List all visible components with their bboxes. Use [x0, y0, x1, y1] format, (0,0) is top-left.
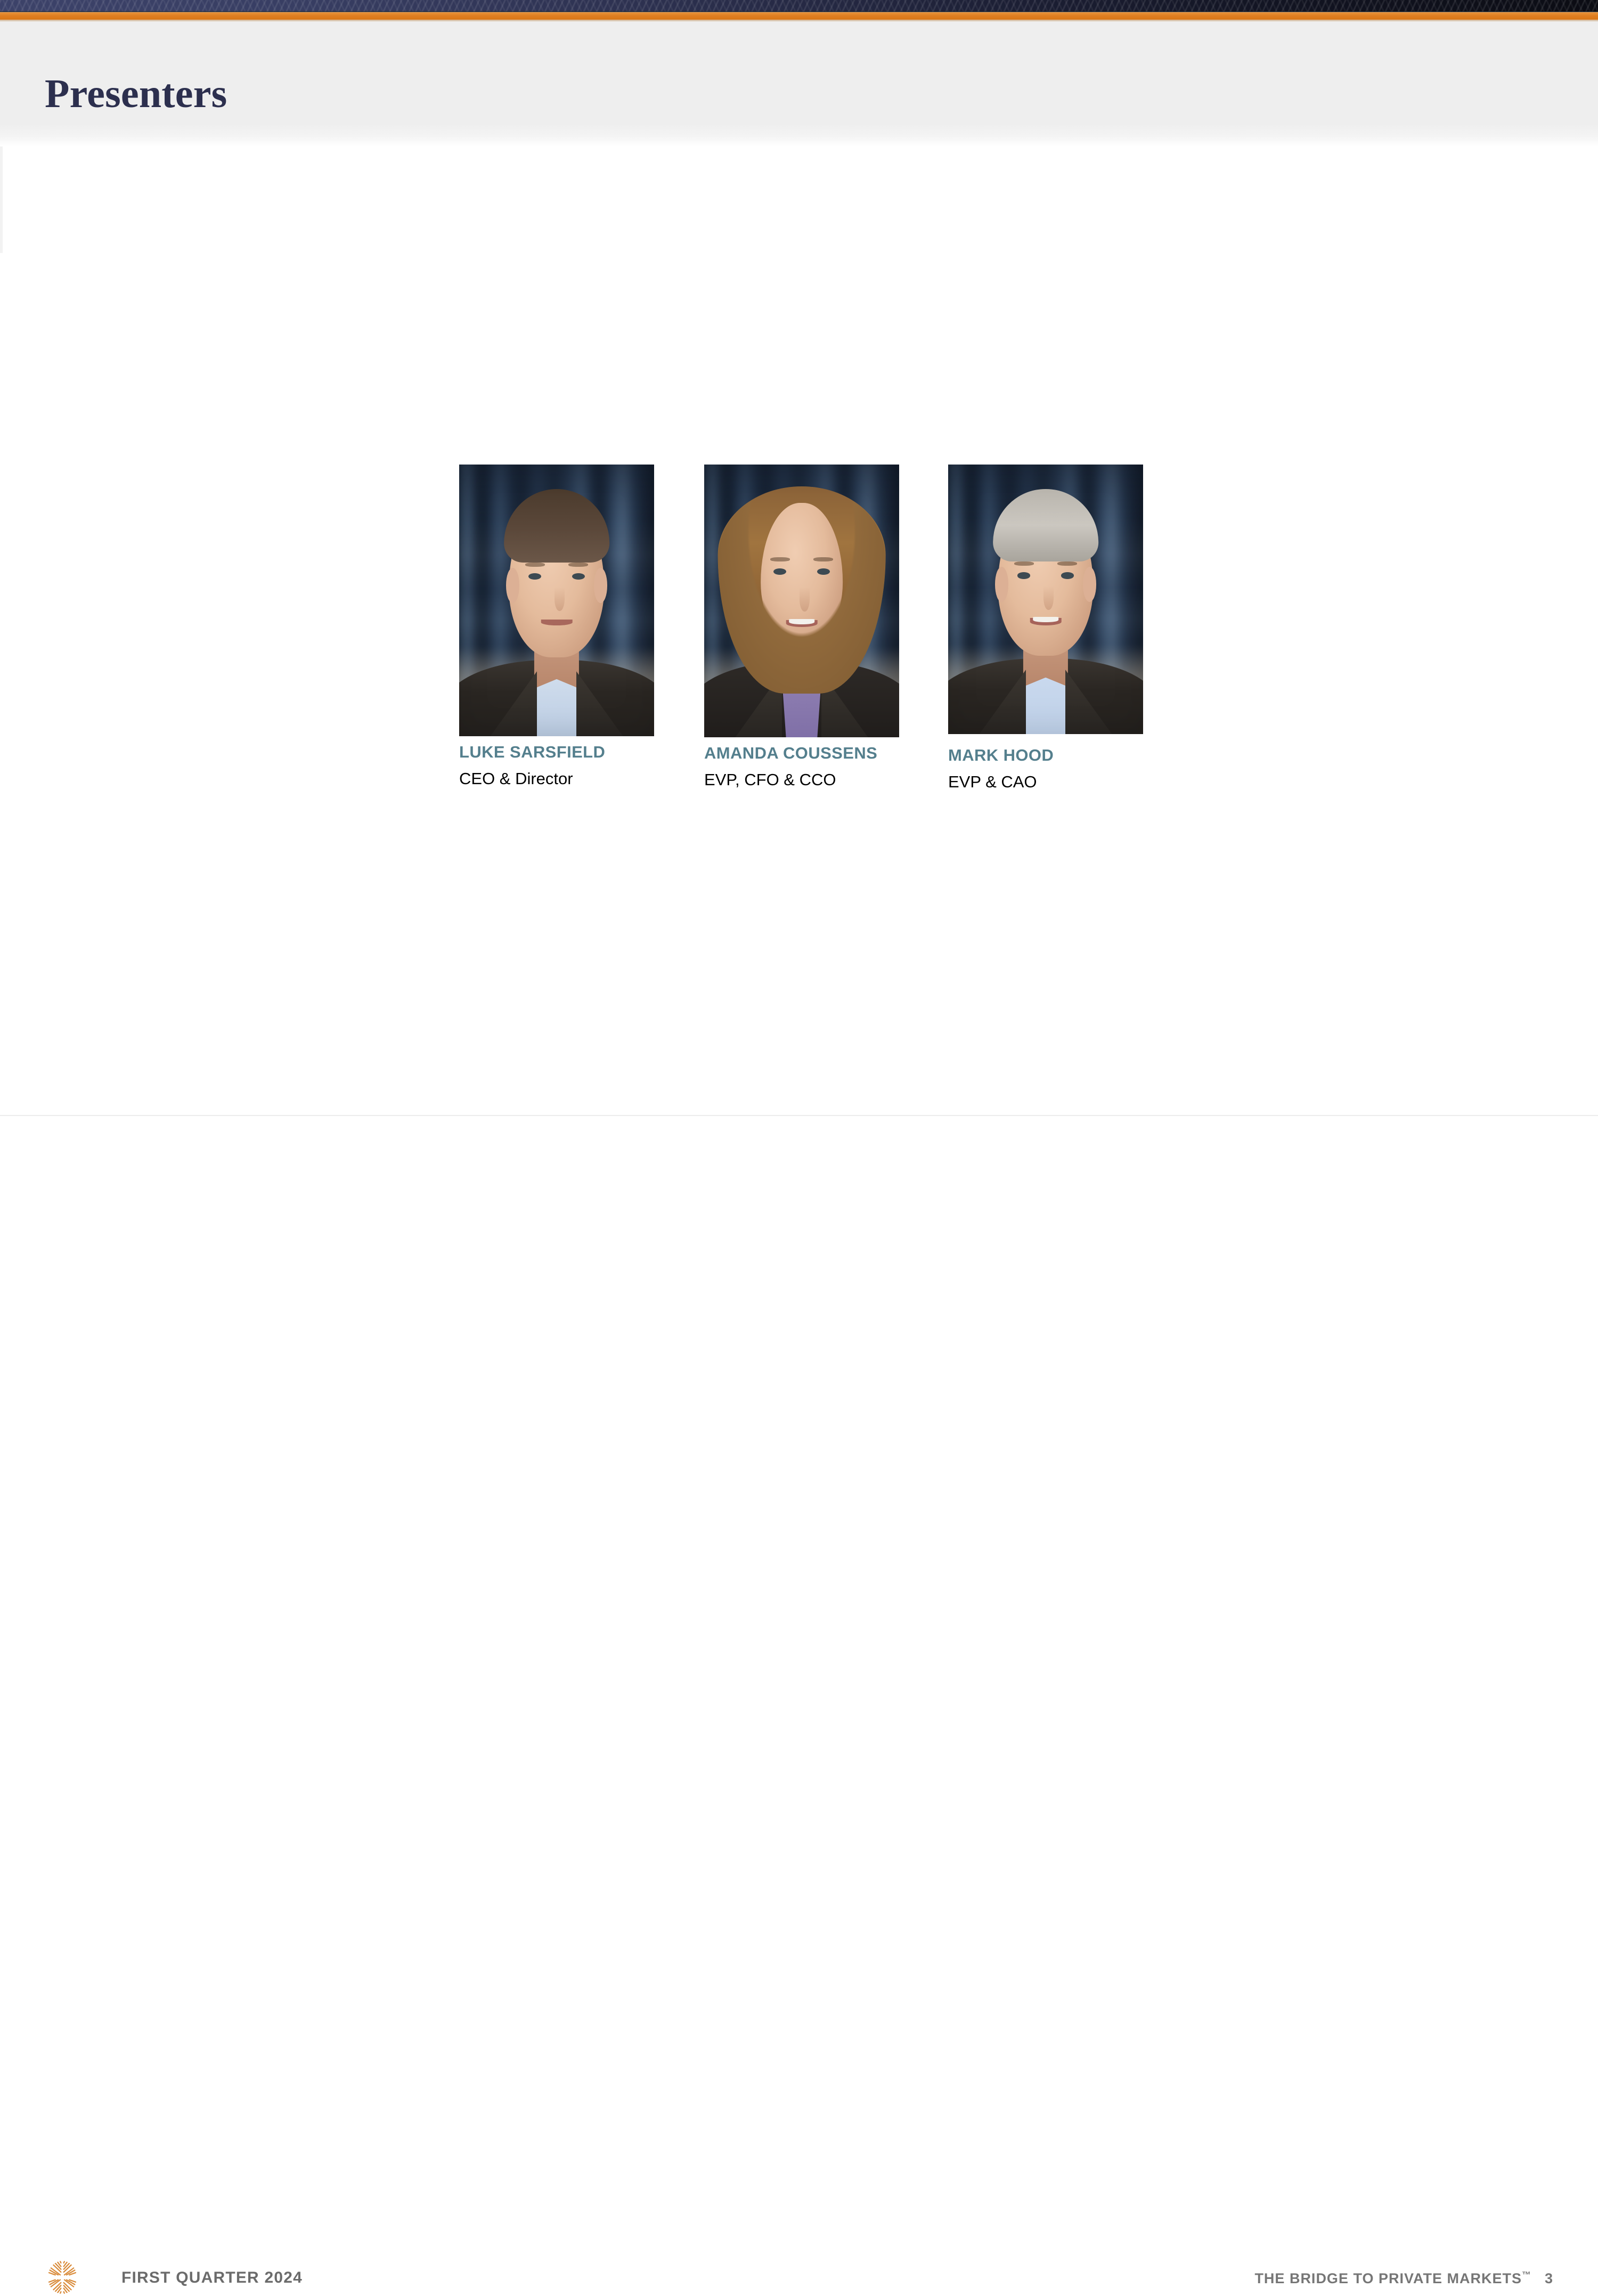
presenter-grid: LUKE SARSFIELD CEO & Director	[459, 465, 1146, 869]
orange-accent-rule	[0, 12, 1598, 20]
eyebrow-left	[770, 557, 790, 561]
ear-right	[594, 568, 608, 603]
footer-tagline: THE BRIDGE TO PRIVATE MARKETS™	[1254, 2270, 1531, 2287]
portrait-figure	[459, 465, 654, 736]
hair	[993, 489, 1098, 562]
eye-left	[1017, 572, 1030, 579]
page-title: Presenters	[45, 74, 227, 114]
teeth	[789, 619, 814, 624]
presenter-title: CEO & Director	[459, 770, 605, 787]
presenter-name: LUKE SARSFIELD	[459, 744, 605, 760]
presenter-meta: LUKE SARSFIELD CEO & Director	[459, 744, 605, 787]
presenter-card: LUKE SARSFIELD CEO & Director	[459, 465, 654, 736]
eyebrow-right	[813, 557, 833, 561]
presenter-card: MARK HOOD EVP & CAO	[948, 465, 1143, 734]
eyebrow-right	[1057, 561, 1077, 566]
company-pinwheel-logo	[45, 2259, 80, 2296]
presenter-name: AMANDA COUSSENS	[704, 745, 877, 761]
presenter-title: EVP & CAO	[948, 774, 1054, 790]
presenter-title: EVP, CFO & CCO	[704, 771, 877, 788]
nose	[555, 587, 564, 612]
nose	[800, 587, 809, 612]
eye-left	[528, 573, 541, 580]
eyebrow-left	[525, 563, 545, 567]
footer-right-group: THE BRIDGE TO PRIVATE MARKETS™ 3	[1254, 2270, 1553, 2287]
nose	[1043, 586, 1053, 610]
left-edge-artifact	[0, 146, 3, 253]
presenter-card: AMANDA COUSSENS EVP, CFO & CCO	[704, 465, 899, 737]
top-decorative-band	[0, 0, 1598, 12]
eyebrow-left	[1014, 561, 1034, 566]
ear-right	[1083, 567, 1097, 602]
slide-footer: FIRST QUARTER 2024 THE BRIDGE TO PRIVATE…	[0, 1116, 1598, 1199]
footer-period-label: FIRST QUARTER 2024	[121, 2269, 303, 2287]
teeth	[1033, 617, 1058, 622]
presenter-meta: AMANDA COUSSENS EVP, CFO & CCO	[704, 745, 877, 788]
hair	[504, 489, 609, 563]
portrait-figure	[948, 465, 1143, 734]
presenter-photo	[948, 465, 1143, 734]
presenter-photo	[459, 465, 654, 736]
trademark-symbol: ™	[1522, 2270, 1531, 2280]
portrait-figure	[704, 465, 899, 737]
eye-right	[817, 568, 830, 575]
presenter-meta: MARK HOOD EVP & CAO	[948, 747, 1054, 790]
presenter-name: MARK HOOD	[948, 747, 1054, 763]
eye-left	[773, 568, 786, 575]
title-band: Presenters	[0, 21, 1598, 146]
presenter-photo	[704, 465, 899, 737]
footer-tagline-text: THE BRIDGE TO PRIVATE MARKETS	[1254, 2270, 1522, 2286]
page-number: 3	[1545, 2270, 1553, 2287]
eye-right	[1061, 572, 1074, 579]
eyebrow-right	[568, 563, 588, 567]
